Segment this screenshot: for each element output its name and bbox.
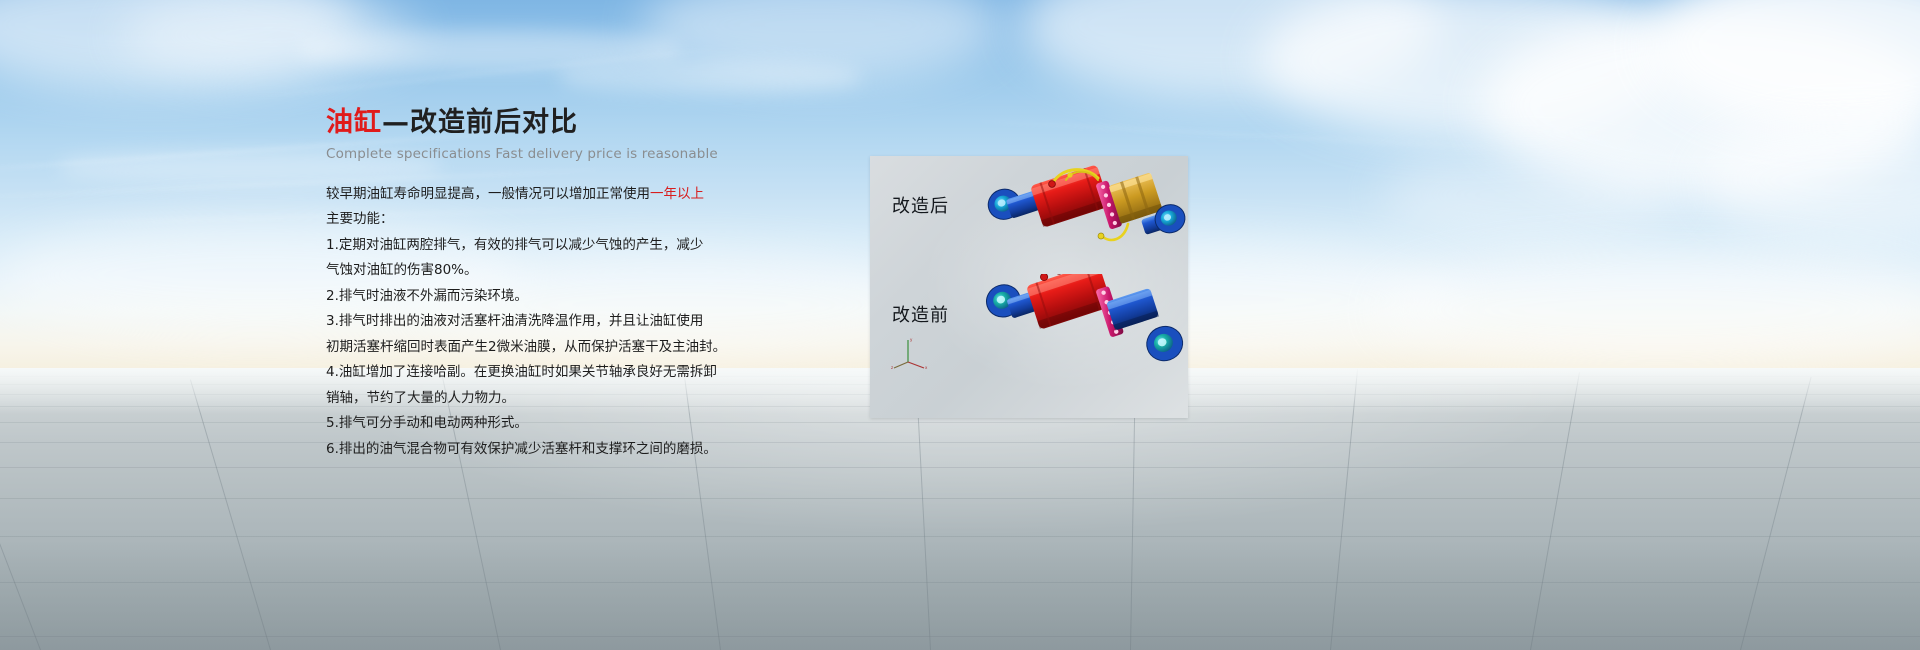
highlighted-text: 一年以上 [650,186,704,202]
body-text: 气蚀对油缸的伤害80%。 [326,262,478,278]
body-text: 主要功能： [326,211,394,227]
feature-description: 较早期油缸寿命明显提高，一般情况可以增加正常使用一年以上主要功能：1.定期对油缸… [326,182,746,463]
tile-seam-horizontal [0,442,1920,443]
cloud-shape [1380,250,1920,370]
body-text: 较早期油缸寿命明显提高，一般情况可以增加正常使用 [326,186,650,202]
feature-line-item-3b: 初期活塞杆缩回时表面产生2微米油膜，从而保护活塞干及主油封。 [326,335,746,361]
coordinate-axis-icon: y x z [890,336,930,370]
feature-line-intro-1: 较早期油缸寿命明显提高，一般情况可以增加正常使用一年以上 [326,182,746,208]
page-title-rest: —改造前后对比 [382,107,578,138]
feature-line-item-3a: 3.排气时排出的油液对活塞杆油清洗降温作用，并且让油缸使用 [326,309,746,335]
copy-column: 油缸—改造前后对比 Complete specifications Fast d… [326,106,746,462]
page-title-highlight: 油缸 [326,107,382,138]
svg-text:z: z [891,365,893,370]
body-text: 初期活塞杆缩回时表面产生2微米油膜，从而保护活塞干及主油封。 [326,339,726,355]
comparison-image-panel: 改造后 改造前 y x z [870,156,1188,418]
feature-line-intro-2: 主要功能： [326,207,746,233]
svg-text:x: x [925,365,928,370]
body-text: 4.油缸增加了连接哈副。在更换油缸时如果关节轴承良好无需拆卸 [326,364,717,380]
feature-line-item-4a: 4.油缸增加了连接哈副。在更换油缸时如果关节轴承良好无需拆卸 [326,360,746,386]
page-subtitle: Complete specifications Fast delivery pr… [326,146,746,162]
feature-line-item-1a: 1.定期对油缸两腔排气，有效的排气可以减少气蚀的产生，减少 [326,233,746,259]
cylinder-after-illustration [978,164,1188,282]
tile-seam-horizontal [0,467,1920,468]
svg-text:y: y [910,337,913,342]
tile-seam-horizontal [0,498,1920,499]
feature-line-item-1b: 气蚀对油缸的伤害80%。 [326,258,746,284]
feature-line-item-5: 5.排气可分手动和电动两种形式。 [326,411,746,437]
feature-line-item-4b: 销轴，节约了大量的人力物力。 [326,386,746,412]
feature-line-item-2: 2.排气时油液不外漏而污染环境。 [326,284,746,310]
body-text: 3.排气时排出的油液对活塞杆油清洗降温作用，并且让油缸使用 [326,313,703,329]
body-text: 2.排气时油液不外漏而污染环境。 [326,288,528,304]
body-text: 销轴，节约了大量的人力物力。 [326,390,515,406]
tile-seam-horizontal [0,422,1920,423]
promo-banner: 油缸—改造前后对比 Complete specifications Fast d… [0,0,1920,650]
feature-line-item-6: 6.排出的油气混合物可有效保护减少活塞杆和支撑环之间的磨损。 [326,437,746,463]
label-after: 改造后 [892,192,949,218]
cloud-shape [560,60,860,94]
cylinder-before-illustration [978,274,1188,406]
body-text: 1.定期对油缸两腔排气，有效的排气可以减少气蚀的产生，减少 [326,237,703,253]
cloud-shape [1380,150,1680,240]
ground-shadow [0,540,1920,650]
label-before: 改造前 [892,301,949,327]
tile-seam-horizontal [0,536,1920,537]
body-text: 5.排气可分手动和电动两种形式。 [326,415,528,431]
page-title: 油缸—改造前后对比 [326,106,746,140]
body-text: 6.排出的油气混合物可有效保护减少活塞杆和支撑环之间的磨损。 [326,441,717,457]
